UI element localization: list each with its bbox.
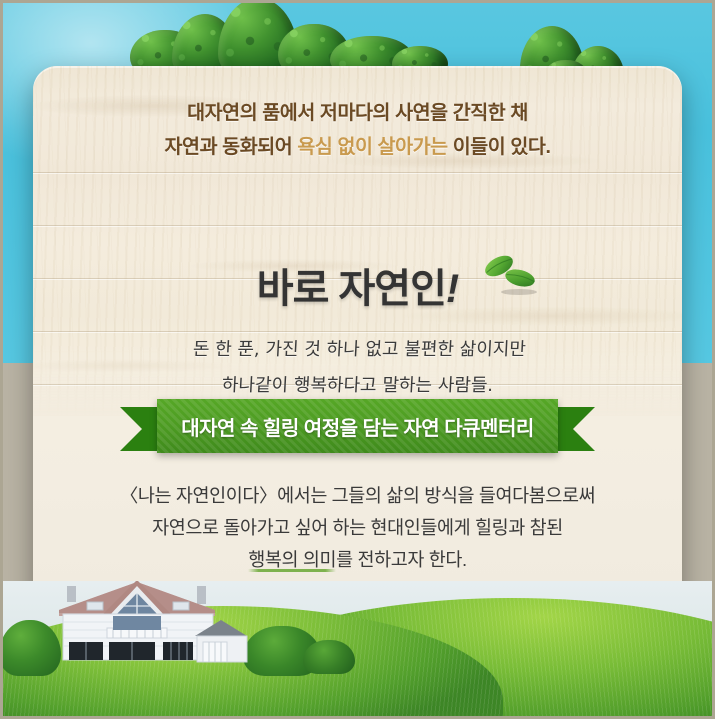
- closing-line-3-highlight: 행복의 의미: [248, 549, 336, 573]
- ribbon-banner: 대자연 속 힐링 여정을 담는 자연 다큐멘터리: [33, 399, 682, 461]
- page-title-text: 바로 자연인: [257, 267, 446, 311]
- closing-line-1: 〈나는 자연인이다〉에서는 그들의 삶의 방식을 들여다봄으로써: [33, 480, 682, 512]
- lead-copy: 대자연의 품에서 저마다의 사연을 간직한 채 자연과 동화되어 욕심 없이 살…: [33, 96, 682, 164]
- plank-line: [33, 225, 682, 226]
- handwritten-line-1: 돈 한 푼, 가진 것 하나 없고 불편한 삶이지만: [34, 332, 682, 368]
- tree-cluster-left: [120, 0, 420, 76]
- lead-line-2-pre: 자연과 동화되어: [165, 136, 298, 158]
- ribbon-text: 대자연 속 힐링 여정을 담는 자연 다큐멘터리: [181, 412, 534, 441]
- bush-icon: [303, 640, 355, 674]
- lead-line-2-highlight: 욕심 없이 살아가는: [297, 136, 447, 158]
- ribbon-bar: 대자연 속 힐링 여정을 담는 자연 다큐멘터리: [157, 399, 558, 453]
- white-country-house: [45, 581, 255, 668]
- plank-line: [33, 172, 682, 173]
- page-title-exclamation: !: [446, 267, 458, 311]
- wood-panel: 대자연의 품에서 저마다의 사연을 간직한 채 자연과 동화되어 욕심 없이 살…: [33, 66, 682, 666]
- lead-line-2-post: 이들이 있다.: [448, 136, 551, 158]
- lead-line-1: 대자연의 품에서 저마다의 사연을 간직한 채: [33, 96, 682, 130]
- closing-line-2: 자연으로 돌아가고 싶어 하는 현대인들에게 힐링과 참된: [33, 512, 682, 544]
- closing-line-3-post: 를 전하고자 한다.: [336, 549, 467, 570]
- lead-line-2: 자연과 동화되어 욕심 없이 살아가는 이들이 있다.: [33, 130, 682, 164]
- promo-image: 대자연의 품에서 저마다의 사연을 간직한 채 자연과 동화되어 욕심 없이 살…: [0, 0, 715, 719]
- grass-hills: [3, 581, 712, 716]
- closing-copy: 〈나는 자연인이다〉에서는 그들의 삶의 방식을 들여다봄으로써 자연으로 돌아…: [33, 480, 682, 576]
- page-title: 바로 자연인!: [33, 256, 682, 314]
- closing-line-3: 행복의 의미를 전하고자 한다.: [33, 544, 682, 576]
